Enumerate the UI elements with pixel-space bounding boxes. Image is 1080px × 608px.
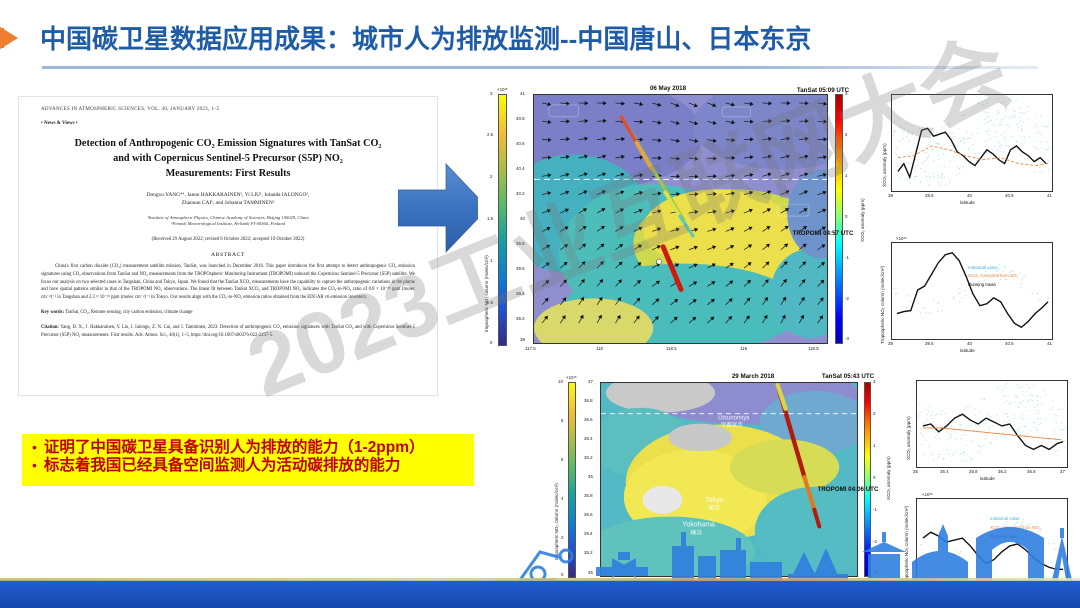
cb-tick: 2 <box>490 174 492 179</box>
svg-text:+: + <box>1040 395 1042 399</box>
svg-text:+: + <box>1019 271 1021 275</box>
svg-text:+: + <box>911 132 913 136</box>
svg-text:+: + <box>923 420 925 424</box>
svg-text:+: + <box>984 139 986 143</box>
svg-text:+: + <box>977 450 979 454</box>
map-ytick: 36.2 <box>584 455 593 460</box>
svg-text:+: + <box>910 150 912 154</box>
svg-text:+: + <box>1031 291 1033 295</box>
svg-text:+: + <box>924 408 926 412</box>
svg-text:+: + <box>1066 425 1068 429</box>
svg-text:+: + <box>943 152 945 156</box>
svg-text:+: + <box>931 452 933 456</box>
footer-skyline-graphic <box>0 522 1080 582</box>
svg-text:+: + <box>1003 420 1005 424</box>
svg-text:+: + <box>902 137 904 141</box>
svg-text:+: + <box>925 310 927 314</box>
svg-text:+: + <box>1015 98 1017 102</box>
svg-text:+: + <box>1036 131 1038 135</box>
svg-text:+: + <box>963 112 965 116</box>
svg-text:+: + <box>926 413 928 417</box>
cb-tick: -1 <box>845 255 849 260</box>
paper-affiliations: ¹Institute of Atmospheric Physics, Chine… <box>41 215 415 229</box>
svg-text:+: + <box>1038 395 1040 399</box>
svg-text:+: + <box>1025 425 1027 429</box>
svg-text:+: + <box>1004 136 1006 140</box>
bullet-icon: • <box>32 440 37 454</box>
svg-text:+: + <box>946 440 948 444</box>
svg-text:+: + <box>1000 143 1002 147</box>
tropomi-xtick: 40 <box>967 341 972 346</box>
svg-text:+: + <box>1064 445 1066 449</box>
tropomi-legend-runningmean: Running mean <box>968 282 996 287</box>
svg-text:+: + <box>920 410 922 414</box>
svg-text:+: + <box>963 450 965 454</box>
svg-text:+: + <box>938 141 940 145</box>
svg-text:+: + <box>962 136 964 140</box>
pagoda-icon <box>862 532 906 578</box>
paper-screenshot: ADVANCES IN ATMOSPHERIC SCIENCES, VOL. 4… <box>18 96 438 396</box>
map-xtick: 117.5 <box>525 346 536 351</box>
robot-arm-icon <box>520 550 572 581</box>
svg-text:+: + <box>1021 129 1023 133</box>
svg-text:+: + <box>893 133 895 137</box>
svg-text:+: + <box>938 300 940 304</box>
svg-text:+: + <box>1037 429 1039 433</box>
svg-text:+: + <box>931 413 933 417</box>
svg-text:+: + <box>996 134 998 138</box>
paper-journal-line: ADVANCES IN ATMOSPHERIC SCIENCES, VOL. 4… <box>41 107 415 112</box>
tangshan-map-left-colorbar <box>498 94 507 346</box>
svg-text:+: + <box>936 130 938 134</box>
svg-text:+: + <box>906 305 908 309</box>
svg-text:+: + <box>1004 99 1006 103</box>
svg-text:+: + <box>964 288 966 292</box>
cb-tick: 1 <box>873 443 875 448</box>
svg-text:+: + <box>1006 419 1008 423</box>
svg-text:+: + <box>1027 399 1029 403</box>
svg-text:+: + <box>1021 281 1023 285</box>
svg-text:+: + <box>966 459 968 463</box>
svg-text:+: + <box>929 174 931 178</box>
tangshan-tropomi-exponent: ×10¹⁵ <box>896 236 907 241</box>
svg-text:+: + <box>944 182 946 186</box>
svg-text:+: + <box>966 406 968 410</box>
svg-text:+: + <box>947 122 949 126</box>
svg-text:+: + <box>984 144 986 148</box>
tropomi-xtick: 41 <box>1047 341 1052 346</box>
svg-text:+: + <box>1022 413 1024 417</box>
svg-text:+: + <box>1019 120 1021 124</box>
svg-text:+: + <box>985 155 987 159</box>
svg-text:+: + <box>971 438 973 442</box>
svg-text:+: + <box>1022 418 1024 422</box>
svg-text:+: + <box>932 457 934 461</box>
map-ytick: 35.8 <box>584 493 593 498</box>
svg-text:+: + <box>990 414 992 418</box>
svg-text:+: + <box>959 422 961 426</box>
cb-tick: 0 <box>845 214 847 219</box>
svg-text:+: + <box>1036 438 1038 442</box>
svg-text:+: + <box>1015 393 1017 397</box>
svg-text:+: + <box>942 408 944 412</box>
paper-keywords: Key words: TanSat, CO₂, Remote sensing, … <box>41 309 415 317</box>
svg-text:+: + <box>918 415 920 419</box>
svg-text:+: + <box>978 151 980 155</box>
tokyo-map-right-colorbar-label: XCO₂ anomaly (ppm) <box>886 456 891 500</box>
paper-title-line1: Detection of Anthropogenic CO₂ Emission … <box>75 138 382 149</box>
svg-text:+: + <box>1028 385 1030 389</box>
tokyo-tansat-xlabel: latitude <box>980 476 995 481</box>
map-xtick: 119.5 <box>808 346 819 351</box>
svg-text:+: + <box>947 416 949 420</box>
svg-text:+: + <box>1004 131 1006 135</box>
svg-text:+: + <box>1056 414 1058 418</box>
svg-text:+: + <box>954 124 956 128</box>
svg-text:+: + <box>953 294 955 298</box>
svg-text:+: + <box>1057 448 1059 452</box>
svg-text:+: + <box>995 437 997 441</box>
svg-text:+: + <box>1040 140 1042 144</box>
svg-text:+: + <box>948 431 950 435</box>
svg-text:+: + <box>1066 430 1068 434</box>
svg-text:+: + <box>957 292 959 296</box>
svg-text:+: + <box>1040 402 1042 406</box>
svg-text:+: + <box>1013 269 1015 273</box>
tansat-xtick: 41 <box>1047 193 1052 198</box>
svg-text:+: + <box>985 98 987 102</box>
svg-text:+: + <box>959 167 961 171</box>
svg-text:+: + <box>1050 179 1052 183</box>
svg-text:+: + <box>899 175 901 179</box>
map-ytick: 36.6 <box>584 417 593 422</box>
svg-text:+: + <box>956 172 958 176</box>
svg-text:+: + <box>988 106 990 110</box>
svg-text:+: + <box>894 119 896 123</box>
key-findings-callout: • 证明了中国碳卫星具备识别人为排放的能力（1-2ppm） • 标志着我国已经具… <box>22 434 474 486</box>
tropomi-xtick: 39 <box>888 341 893 346</box>
svg-text:+: + <box>907 131 909 135</box>
svg-text:+: + <box>924 453 926 457</box>
svg-text:+: + <box>942 147 944 151</box>
svg-text:+: + <box>977 131 979 135</box>
map-ytick: 40 <box>520 216 525 221</box>
svg-text:+: + <box>939 183 941 187</box>
svg-text:+: + <box>974 413 976 417</box>
svg-text:+: + <box>965 453 967 457</box>
svg-text:+: + <box>975 406 977 410</box>
svg-text:+: + <box>990 118 992 122</box>
map-ytick: 35.6 <box>584 512 593 517</box>
svg-text:+: + <box>983 110 985 114</box>
svg-text:+: + <box>988 96 990 100</box>
svg-text:+: + <box>1001 100 1003 104</box>
svg-text:+: + <box>943 142 945 146</box>
svg-text:+: + <box>959 300 961 304</box>
svg-text:+: + <box>1064 438 1066 442</box>
svg-text:+: + <box>1021 111 1023 115</box>
tropomi-xtick: 40.5 <box>1005 341 1014 346</box>
svg-text:+: + <box>1017 405 1019 409</box>
svg-text:+: + <box>1013 413 1015 417</box>
paper-kicker: • News & Views • <box>41 121 415 126</box>
svg-text:+: + <box>983 104 985 108</box>
svg-text:+: + <box>893 286 895 290</box>
svg-text:+: + <box>921 161 923 165</box>
svg-text:+: + <box>1027 110 1029 114</box>
map-xtick: 118 <box>596 346 603 351</box>
svg-text:+: + <box>1006 412 1008 416</box>
svg-text:+: + <box>1051 145 1053 149</box>
svg-text:+: + <box>937 180 939 184</box>
svg-text:+: + <box>1052 398 1054 402</box>
svg-text:+: + <box>906 293 908 297</box>
svg-text:+: + <box>1043 124 1045 128</box>
cb-tick: 4 <box>561 496 563 501</box>
svg-text:+: + <box>941 124 943 128</box>
svg-text:+: + <box>1061 407 1063 411</box>
svg-text:Tokyo: Tokyo <box>705 497 723 504</box>
svg-text:+: + <box>924 305 926 309</box>
svg-text:+: + <box>909 162 911 166</box>
tangshan-map-right-colorbar <box>835 94 843 344</box>
tangshan-tropomi-ylabel: Tropospheric NO₂ column (molec/cm²) <box>880 266 885 344</box>
svg-text:+: + <box>920 311 922 315</box>
svg-text:+: + <box>998 110 1000 114</box>
map-ytick: 40.8 <box>516 116 525 121</box>
svg-text:+: + <box>1022 385 1024 389</box>
tansat-xtick: 40.5 <box>1005 193 1014 198</box>
svg-text:+: + <box>999 149 1001 153</box>
svg-text:+: + <box>1009 116 1011 120</box>
svg-text:+: + <box>1040 416 1042 420</box>
svg-text:+: + <box>952 451 954 455</box>
map-ytick: 39.2 <box>516 316 525 321</box>
svg-text:+: + <box>1016 139 1018 143</box>
slide-root: 中国碳卫星数据应用成果：城市人为排放监测--中国唐山、日本东京 ADVANCES… <box>0 0 1080 608</box>
svg-text:+: + <box>1001 117 1003 121</box>
svg-text:+: + <box>934 430 936 434</box>
svg-text:+: + <box>1025 405 1027 409</box>
svg-text:+: + <box>1052 405 1054 409</box>
paper-keywords-label: Key words: <box>41 310 64 315</box>
svg-text:+: + <box>928 408 930 412</box>
tangshan-tansat-ylabel: XCO₂ anomaly (ppm) <box>882 143 887 187</box>
svg-text:+: + <box>964 141 966 145</box>
svg-text:+: + <box>1044 394 1046 398</box>
svg-text:+: + <box>990 136 992 140</box>
svg-text:+: + <box>916 130 918 134</box>
svg-text:+: + <box>925 438 927 442</box>
svg-text:+: + <box>1045 416 1047 420</box>
svg-text:+: + <box>1034 169 1036 173</box>
cb-tick: 2 <box>845 132 847 137</box>
paper-citation-value: Yang, D. X., J. Hakkarainen, Y. Liu, I. … <box>41 325 415 338</box>
paper-keywords-value: TanSat, CO₂, Remote sensing, city carbon… <box>65 310 192 315</box>
paper-abstract-body: China's first carbon dioxide (CO₂) measu… <box>41 263 415 301</box>
svg-text:Utsunomiya: Utsunomiya <box>718 416 750 422</box>
svg-text:+: + <box>962 296 964 300</box>
svg-text:+: + <box>1004 267 1006 271</box>
svg-text:+: + <box>896 164 898 168</box>
tansat-xtick: 35.8 <box>969 469 978 474</box>
cb-tick: 1.5 <box>487 216 493 221</box>
svg-text:+: + <box>1006 398 1008 402</box>
svg-text:+: + <box>1021 135 1023 139</box>
svg-text:+: + <box>922 306 924 310</box>
svg-text:+: + <box>1054 412 1056 416</box>
svg-text:+: + <box>1029 134 1031 138</box>
tansat-xtick: 35 <box>913 469 918 474</box>
cb-tick: -2 <box>845 296 849 301</box>
svg-text:+: + <box>1036 123 1038 127</box>
svg-text:+: + <box>1023 140 1025 144</box>
tangshan-map-plot[interactable] <box>533 94 828 344</box>
svg-text:+: + <box>1051 151 1053 155</box>
cb-tick: 0 <box>873 475 875 480</box>
svg-text:+: + <box>980 445 982 449</box>
paper-title-line2: and with Copernicus Sentinel-5 Precursor… <box>113 153 343 164</box>
svg-text:+: + <box>939 153 941 157</box>
svg-text:+: + <box>1037 148 1039 152</box>
svg-text:+: + <box>929 404 931 408</box>
map-ytick: 39 <box>520 337 525 342</box>
svg-text:+: + <box>894 292 896 296</box>
svg-text:+: + <box>917 300 919 304</box>
svg-text:+: + <box>1007 144 1009 148</box>
svg-text:+: + <box>1014 114 1016 118</box>
svg-text:+: + <box>984 422 986 426</box>
svg-text:+: + <box>999 262 1001 266</box>
svg-text:+: + <box>949 179 951 183</box>
tansat-xtick: 35.4 <box>940 469 949 474</box>
svg-text:+: + <box>908 181 910 185</box>
svg-text:+: + <box>987 138 989 142</box>
svg-text:+: + <box>966 130 968 134</box>
svg-text:+: + <box>932 299 934 303</box>
svg-text:+: + <box>1007 122 1009 126</box>
tokyo-tansat-plot[interactable]: ++++++++++++++++++++++++++++++++++++++++… <box>916 380 1068 468</box>
svg-text:+: + <box>972 147 974 151</box>
svg-text:+: + <box>1017 429 1019 433</box>
svg-text:+: + <box>1041 432 1043 436</box>
svg-text:+: + <box>1007 394 1009 398</box>
svg-text:+: + <box>1031 398 1033 402</box>
svg-text:+: + <box>945 411 947 415</box>
tangshan-tansat-plot[interactable]: ++++++++++++++++++++++++++++++++++++++++… <box>891 94 1053 192</box>
svg-text:+: + <box>997 385 999 389</box>
paper-abstract-heading: ABSTRACT <box>41 252 415 258</box>
svg-text:+: + <box>1019 285 1021 289</box>
svg-text:+: + <box>950 433 952 437</box>
svg-text:+: + <box>894 130 896 134</box>
svg-text:+: + <box>1009 401 1011 405</box>
svg-text:+: + <box>937 148 939 152</box>
svg-text:+: + <box>927 179 929 183</box>
finding-row-1: • 证明了中国碳卫星具备识别人为排放的能力（1-2ppm） <box>32 439 468 457</box>
svg-text:+: + <box>944 123 946 127</box>
svg-text:+: + <box>910 300 912 304</box>
svg-text:+: + <box>1048 167 1050 171</box>
svg-text:+: + <box>999 123 1001 127</box>
tangshan-tropomi-plot[interactable]: ++++++++++++++++++++++++++++++++++++++++… <box>891 242 1053 340</box>
svg-text:+: + <box>928 444 930 448</box>
svg-text:+: + <box>992 423 994 427</box>
paper-authors: Dongxu YANG*¹, Janne HAKKARAINEN², Yi LI… <box>41 191 415 207</box>
tokyo-tansat-title: TanSat 05:43 UTC <box>583 373 1080 380</box>
map-ytick: 39.6 <box>516 266 525 271</box>
cb-tick: 1 <box>845 173 847 178</box>
svg-text:+: + <box>1023 389 1025 393</box>
svg-text:+: + <box>925 151 927 155</box>
svg-text:+: + <box>963 407 965 411</box>
svg-text:+: + <box>959 171 961 175</box>
svg-text:+: + <box>1048 121 1050 125</box>
svg-text:+: + <box>993 123 995 127</box>
header-arrow-icon <box>0 17 18 59</box>
svg-text:+: + <box>1033 420 1035 424</box>
cb-tick: 0.5 <box>487 300 493 305</box>
svg-text:+: + <box>988 110 990 114</box>
svg-text:+: + <box>980 449 982 453</box>
svg-text:+: + <box>962 164 964 168</box>
svg-text:+: + <box>967 137 969 141</box>
cb-tick: -3 <box>845 336 849 341</box>
svg-text:+: + <box>1041 170 1043 174</box>
tansat-xtick: 36.6 <box>1027 469 1036 474</box>
svg-text:+: + <box>937 164 939 168</box>
svg-text:+: + <box>953 131 955 135</box>
svg-text:+: + <box>1009 418 1011 422</box>
svg-text:+: + <box>1022 398 1024 402</box>
svg-text:+: + <box>1045 140 1047 144</box>
paper-affiliation-1: ¹Institute of Atmospheric Physics, Chine… <box>147 215 308 220</box>
svg-text:+: + <box>994 131 996 135</box>
tropomi-legend-individual: Individual value <box>968 265 998 270</box>
footer-band <box>0 580 1080 608</box>
finding-row-2: • 标志着我国已经具备空间监测人为活动碳排放的能力 <box>32 457 468 475</box>
tokyo-tropomi-title: TROPOMI 04:06 UTC <box>583 486 1080 493</box>
svg-text:+: + <box>1011 96 1013 100</box>
tansat-xtick: 39.5 <box>925 193 934 198</box>
svg-text:+: + <box>920 166 922 170</box>
cb-tick: 8 <box>561 418 563 423</box>
svg-text:+: + <box>1058 407 1060 411</box>
svg-text:+: + <box>1019 159 1021 163</box>
tower-icon <box>938 524 948 580</box>
svg-text:+: + <box>1034 146 1036 150</box>
svg-text:+: + <box>903 126 905 130</box>
svg-text:+: + <box>1061 428 1063 432</box>
tangshan-tropomi-title: TROPOMI 04:57 UTC <box>523 230 1080 237</box>
svg-text:+: + <box>986 130 988 134</box>
svg-text:+: + <box>961 460 963 464</box>
tansat-xtick: 40 <box>967 193 972 198</box>
svg-text:+: + <box>938 175 940 179</box>
svg-text:+: + <box>987 120 989 124</box>
gate-arch-icon <box>976 527 1044 580</box>
svg-text:+: + <box>1039 170 1041 174</box>
svg-text:+: + <box>909 139 911 143</box>
svg-text:+: + <box>985 437 987 441</box>
paper-affiliation-2: ²Finnish Meteorological Institute, Helsi… <box>171 221 285 226</box>
figure-tangshan: tropospheric NO₂ column (molec/cm²) ×10¹… <box>478 82 1078 364</box>
map-ytick: 40.4 <box>516 166 525 171</box>
svg-text:+: + <box>1032 394 1034 398</box>
svg-text:+: + <box>1055 448 1057 452</box>
svg-text:+: + <box>951 459 953 463</box>
svg-text:+: + <box>904 121 906 125</box>
